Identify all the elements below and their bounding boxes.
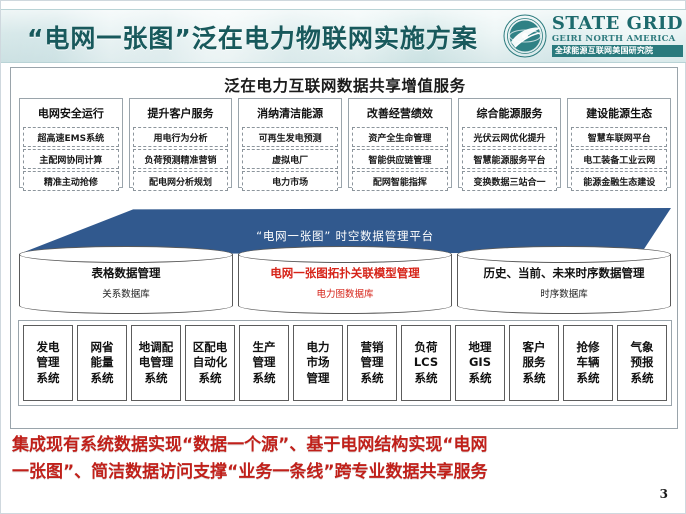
slide: “电网一张图”泛在电力物联网实施方案 STATE GRID GEIRI NORT… <box>0 0 686 514</box>
cylinder-text: 历史、当前、未来时序数据管理 时序数据库 <box>457 265 671 300</box>
system-line: 抢修 <box>577 340 600 356</box>
system-line: GIS <box>469 355 491 371</box>
column-header: 电网安全运行 <box>23 102 119 125</box>
slide-header: “电网一张图”泛在电力物联网实施方案 STATE GRID GEIRI NORT… <box>1 9 686 63</box>
column-item: 智慧能源服务平台 <box>462 149 558 169</box>
cylinder-title: 历史、当前、未来时序数据管理 <box>457 265 671 281</box>
system-line: 生产 <box>253 340 276 356</box>
column-item: 主配网协同计算 <box>23 149 119 169</box>
source-systems-row: 发电 管理 系统 网省 能量 系统 地调配 电管理 系统 区配电 自动化 系统 … <box>18 320 672 406</box>
cylinder-title: 电网一张图拓扑关联模型管理 <box>238 265 452 281</box>
service-column-customer-service: 提升客户服务 用电行为分析 负荷预测精准营销 配电网分析规划 <box>129 98 233 188</box>
system-line: 营销 <box>361 340 384 356</box>
system-line: 系统 <box>415 371 438 387</box>
system-line: 系统 <box>361 371 384 387</box>
system-box-gis: 地理 GIS 系统 <box>455 325 505 401</box>
column-item: 智慧车联网平台 <box>571 127 667 147</box>
panel-title: 泛在电力互联网数据共享增值服务 <box>11 74 679 96</box>
system-box-load-lcs: 负荷 LCS 系统 <box>401 325 451 401</box>
column-item: 光伏云网优化提升 <box>462 127 558 147</box>
system-line: 电力 <box>307 340 330 356</box>
system-line: 地理 <box>469 340 492 356</box>
system-line: 系统 <box>37 371 60 387</box>
column-item: 虚拟电厂 <box>242 149 338 169</box>
logo-line-state-grid: STATE GRID <box>552 15 683 33</box>
system-box-generation: 发电 管理 系统 <box>23 325 73 401</box>
column-item: 变换数据三站合一 <box>462 171 558 191</box>
system-box-production-management: 生产 管理 系统 <box>239 325 289 401</box>
service-column-energy-ecosystem: 建设能源生态 智慧车联网平台 电工装备工业云网 能源金融生态建设 <box>567 98 671 188</box>
system-line: 管理 <box>253 355 276 371</box>
column-item: 电力市场 <box>242 171 338 191</box>
system-line: 负荷 <box>415 340 438 356</box>
system-line: 管理 <box>37 355 60 371</box>
cylinder-title: 表格数据管理 <box>19 265 233 281</box>
column-item: 电工装备工业云网 <box>571 149 667 169</box>
database-cylinders: 表格数据管理 关系数据库 电网一张图拓扑关联模型管理 电力图数据库 历史、当前、 <box>19 246 671 314</box>
system-box-weather-forecast: 气象 预报 系统 <box>617 325 667 401</box>
cylinder-top-ellipse <box>19 246 233 263</box>
system-line: 气象 <box>631 340 654 356</box>
column-item: 可再生发电预测 <box>242 127 338 147</box>
footer-line-2: 一张图”、简洁数据访问支撑“业务一条线”跨专业数据共享服务 <box>12 460 488 485</box>
column-header: 建设能源生态 <box>571 102 667 125</box>
slide-header-title: “电网一张图”泛在电力物联网实施方案 <box>27 19 478 55</box>
cylinder-subtitle: 时序数据库 <box>457 286 671 300</box>
column-item: 精准主动抢修 <box>23 171 119 191</box>
system-line: 管理 <box>307 371 330 387</box>
system-line: 能量 <box>91 355 114 371</box>
system-line: 网省 <box>91 340 114 356</box>
system-line: 系统 <box>199 371 222 387</box>
column-item: 资产全生命管理 <box>352 127 448 147</box>
cylinder-text: 电网一张图拓扑关联模型管理 电力图数据库 <box>238 265 452 300</box>
state-grid-logo: STATE GRID GEIRI NORTH AMERICA 全球能源互联网美国… <box>503 12 683 60</box>
column-item: 用电行为分析 <box>133 127 229 147</box>
system-line: 服务 <box>523 355 546 371</box>
cylinder-text: 表格数据管理 关系数据库 <box>19 265 233 300</box>
column-item: 配网智能指挥 <box>352 171 448 191</box>
cylinder-graph-db: 电网一张图拓扑关联模型管理 电力图数据库 <box>238 246 452 314</box>
system-box-electricity-market: 电力 市场 管理 <box>293 325 343 401</box>
system-line: 市场 <box>307 355 330 371</box>
column-header: 改善经营绩效 <box>352 102 448 125</box>
system-box-distribution-dispatch: 地调配 电管理 系统 <box>131 325 181 401</box>
platform-band-label: “电网一张图” 时空数据管理平台 <box>19 228 671 244</box>
column-header: 提升客户服务 <box>133 102 229 125</box>
system-line: LCS <box>414 355 438 371</box>
service-column-integrated-energy: 综合能源服务 光伏云网优化提升 智慧能源服务平台 变换数据三站合一 <box>458 98 562 188</box>
system-line: 客户 <box>523 340 546 356</box>
state-grid-emblem-icon <box>503 14 547 58</box>
column-item: 能源金融生态建设 <box>571 171 667 191</box>
system-line: 系统 <box>253 371 276 387</box>
page-number: 3 <box>660 487 668 501</box>
diagram-panel: 泛在电力互联网数据共享增值服务 电网安全运行 超高速EMS系统 主配网协同计算 … <box>10 67 678 429</box>
system-line: 车辆 <box>577 355 600 371</box>
system-line: 发电 <box>37 340 60 356</box>
service-column-grid-safety: 电网安全运行 超高速EMS系统 主配网协同计算 精准主动抢修 <box>19 98 123 188</box>
cylinder-top-ellipse <box>238 246 452 263</box>
column-item: 智能供应链管理 <box>352 149 448 169</box>
column-item: 负荷预测精准营销 <box>133 149 229 169</box>
system-box-repair-vehicle: 抢修 车辆 系统 <box>563 325 613 401</box>
slide-footer: 集成现有系统数据实现“数据一个源”、基于电网结构实现“电网 一张图”、简洁数据访… <box>10 433 678 507</box>
cylinder-relational-db: 表格数据管理 关系数据库 <box>19 246 233 314</box>
logo-line-geiri: GEIRI NORTH AMERICA <box>552 35 683 44</box>
system-line: 区配电 <box>193 340 228 356</box>
system-line: 系统 <box>91 371 114 387</box>
system-line: 地调配 <box>139 340 174 356</box>
system-line: 自动化 <box>193 355 228 371</box>
cylinder-timeseries-db: 历史、当前、未来时序数据管理 时序数据库 <box>457 246 671 314</box>
logo-text-block: STATE GRID GEIRI NORTH AMERICA 全球能源互联网美国… <box>552 15 683 58</box>
column-item: 超高速EMS系统 <box>23 127 119 147</box>
column-header: 消纳清洁能源 <box>242 102 338 125</box>
system-line: 系统 <box>145 371 168 387</box>
system-line: 预报 <box>631 355 654 371</box>
system-line: 系统 <box>631 371 654 387</box>
system-box-distribution-automation: 区配电 自动化 系统 <box>185 325 235 401</box>
service-column-clean-energy: 消纳清洁能源 可再生发电预测 虚拟电厂 电力市场 <box>238 98 342 188</box>
footer-line-1: 集成现有系统数据实现“数据一个源”、基于电网结构实现“电网 <box>12 433 488 458</box>
logo-line-chinese: 全球能源互联网美国研究院 <box>552 45 683 57</box>
service-columns: 电网安全运行 超高速EMS系统 主配网协同计算 精准主动抢修 提升客户服务 用电… <box>19 98 671 188</box>
system-box-customer-service: 客户 服务 系统 <box>509 325 559 401</box>
system-box-provincial-energy: 网省 能量 系统 <box>77 325 127 401</box>
column-header: 综合能源服务 <box>462 102 558 125</box>
system-line: 系统 <box>469 371 492 387</box>
system-line: 系统 <box>523 371 546 387</box>
service-column-performance: 改善经营绩效 资产全生命管理 智能供应链管理 配网智能指挥 <box>348 98 452 188</box>
cylinder-top-ellipse <box>457 246 671 263</box>
system-box-marketing: 营销 管理 系统 <box>347 325 397 401</box>
system-line: 系统 <box>577 371 600 387</box>
system-line: 电管理 <box>139 355 174 371</box>
system-line: 管理 <box>361 355 384 371</box>
column-item: 配电网分析规划 <box>133 171 229 191</box>
cylinder-subtitle: 电力图数据库 <box>238 286 452 300</box>
cylinder-subtitle: 关系数据库 <box>19 286 233 300</box>
